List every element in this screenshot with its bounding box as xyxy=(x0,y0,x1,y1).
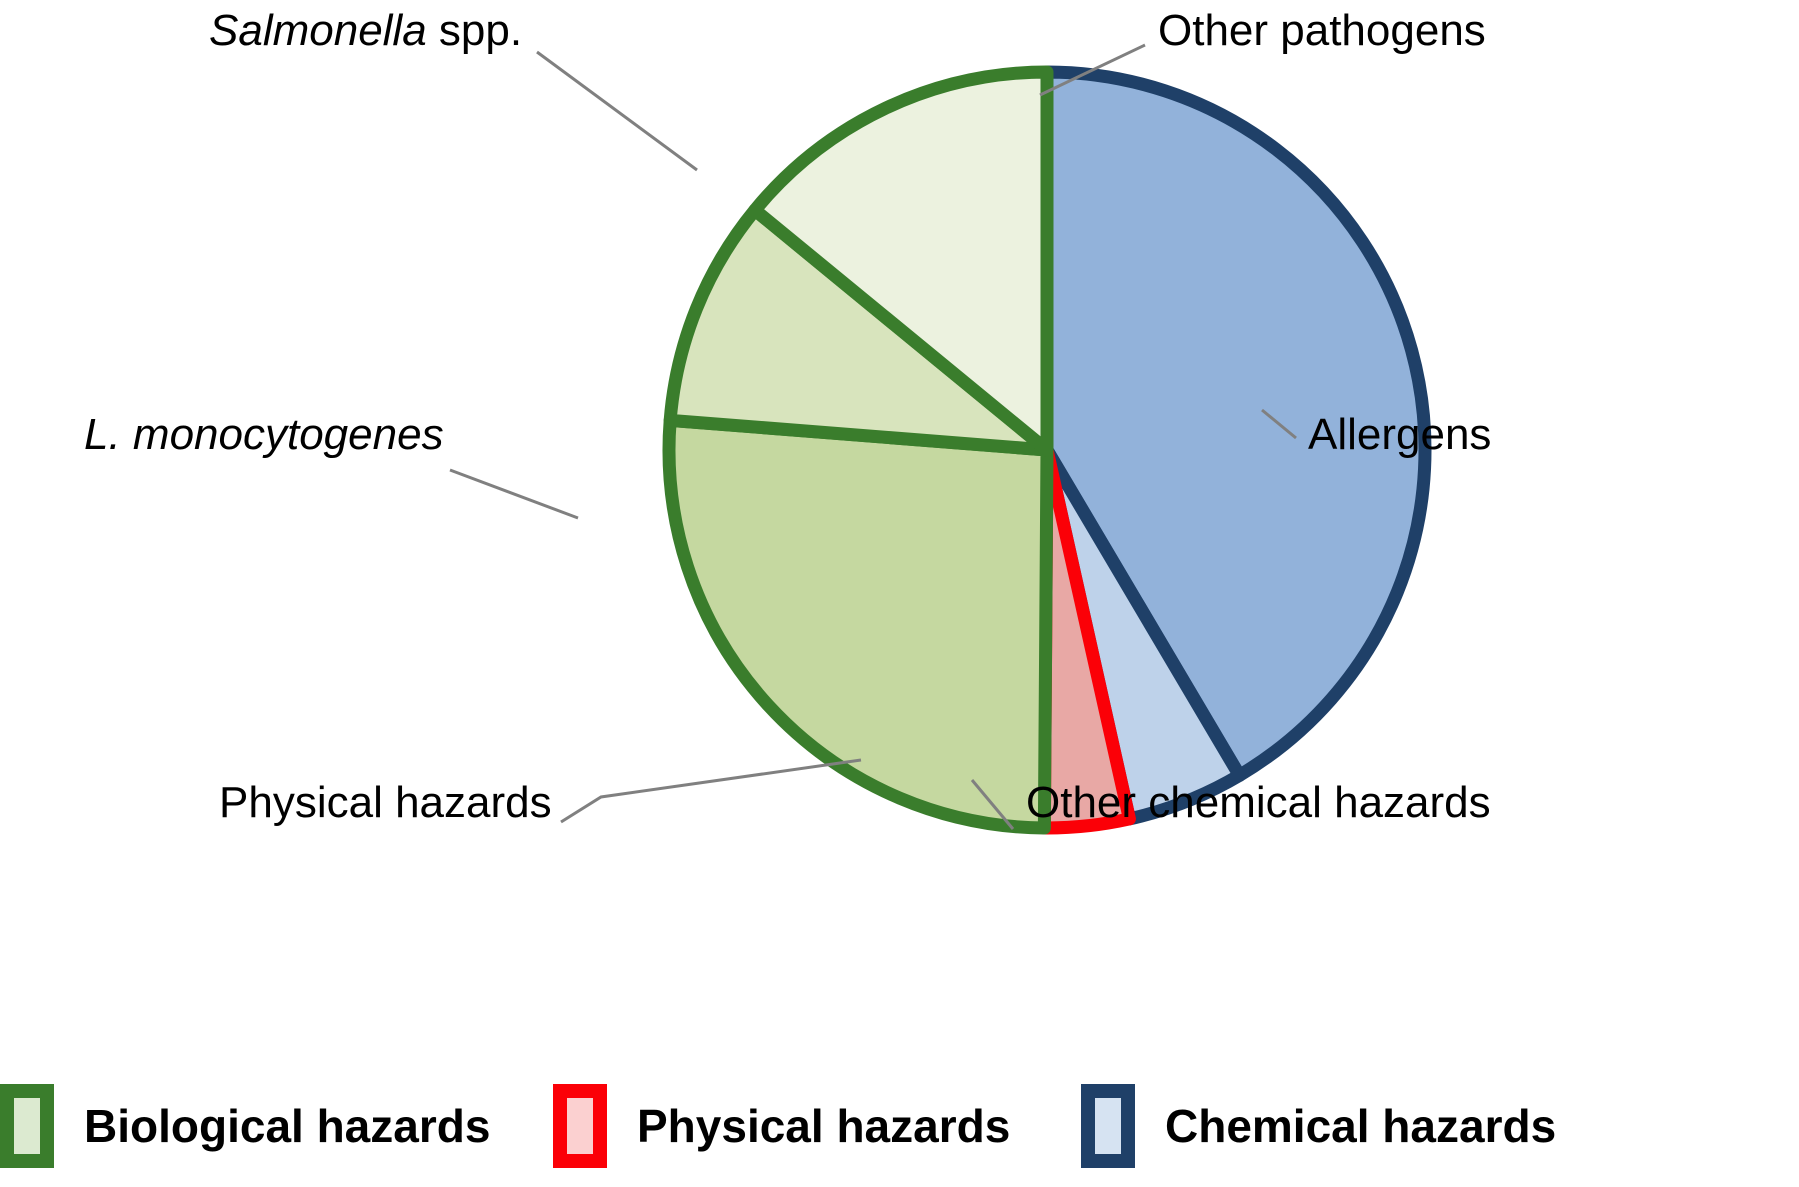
callout-l-monocytogenes: L. monocytogenes xyxy=(84,412,444,458)
legend-item-biological[interactable]: Biological hazards xyxy=(0,1081,490,1171)
callout-salmonella-genus: Salmonella xyxy=(209,6,427,55)
callout-salmonella-suffix: spp. xyxy=(427,6,522,55)
leader-line-physical-hazards xyxy=(561,760,861,822)
callout-other-pathogens: Other pathogens xyxy=(1158,8,1486,54)
callout-salmonella: Salmonella spp. xyxy=(209,8,522,54)
pie-slice[interactable] xyxy=(669,420,1047,828)
legend: Biological hazards Physical hazards Chem… xyxy=(0,1075,1799,1187)
chart-canvas: Salmonella spp. Other pathogens Allergen… xyxy=(0,0,1799,1187)
legend-swatch-physical xyxy=(553,1084,607,1168)
legend-swatch-chemical xyxy=(1081,1084,1135,1168)
legend-label-chemical: Chemical hazards xyxy=(1165,1099,1556,1153)
legend-swatch-biological xyxy=(0,1084,54,1168)
legend-item-physical[interactable]: Physical hazards xyxy=(553,1081,1010,1171)
legend-label-biological: Biological hazards xyxy=(84,1099,490,1153)
leader-line-salmonella xyxy=(537,52,697,170)
legend-item-chemical[interactable]: Chemical hazards xyxy=(1081,1081,1556,1171)
pie-chart xyxy=(0,0,1799,1187)
legend-label-physical: Physical hazards xyxy=(637,1099,1010,1153)
callout-physical-hazards: Physical hazards xyxy=(219,780,552,826)
callout-other-chemical-hazards: Other chemical hazards xyxy=(1026,780,1491,826)
callout-allergens: Allergens xyxy=(1308,412,1491,458)
leader-line-l-monocytogenes xyxy=(450,470,578,518)
